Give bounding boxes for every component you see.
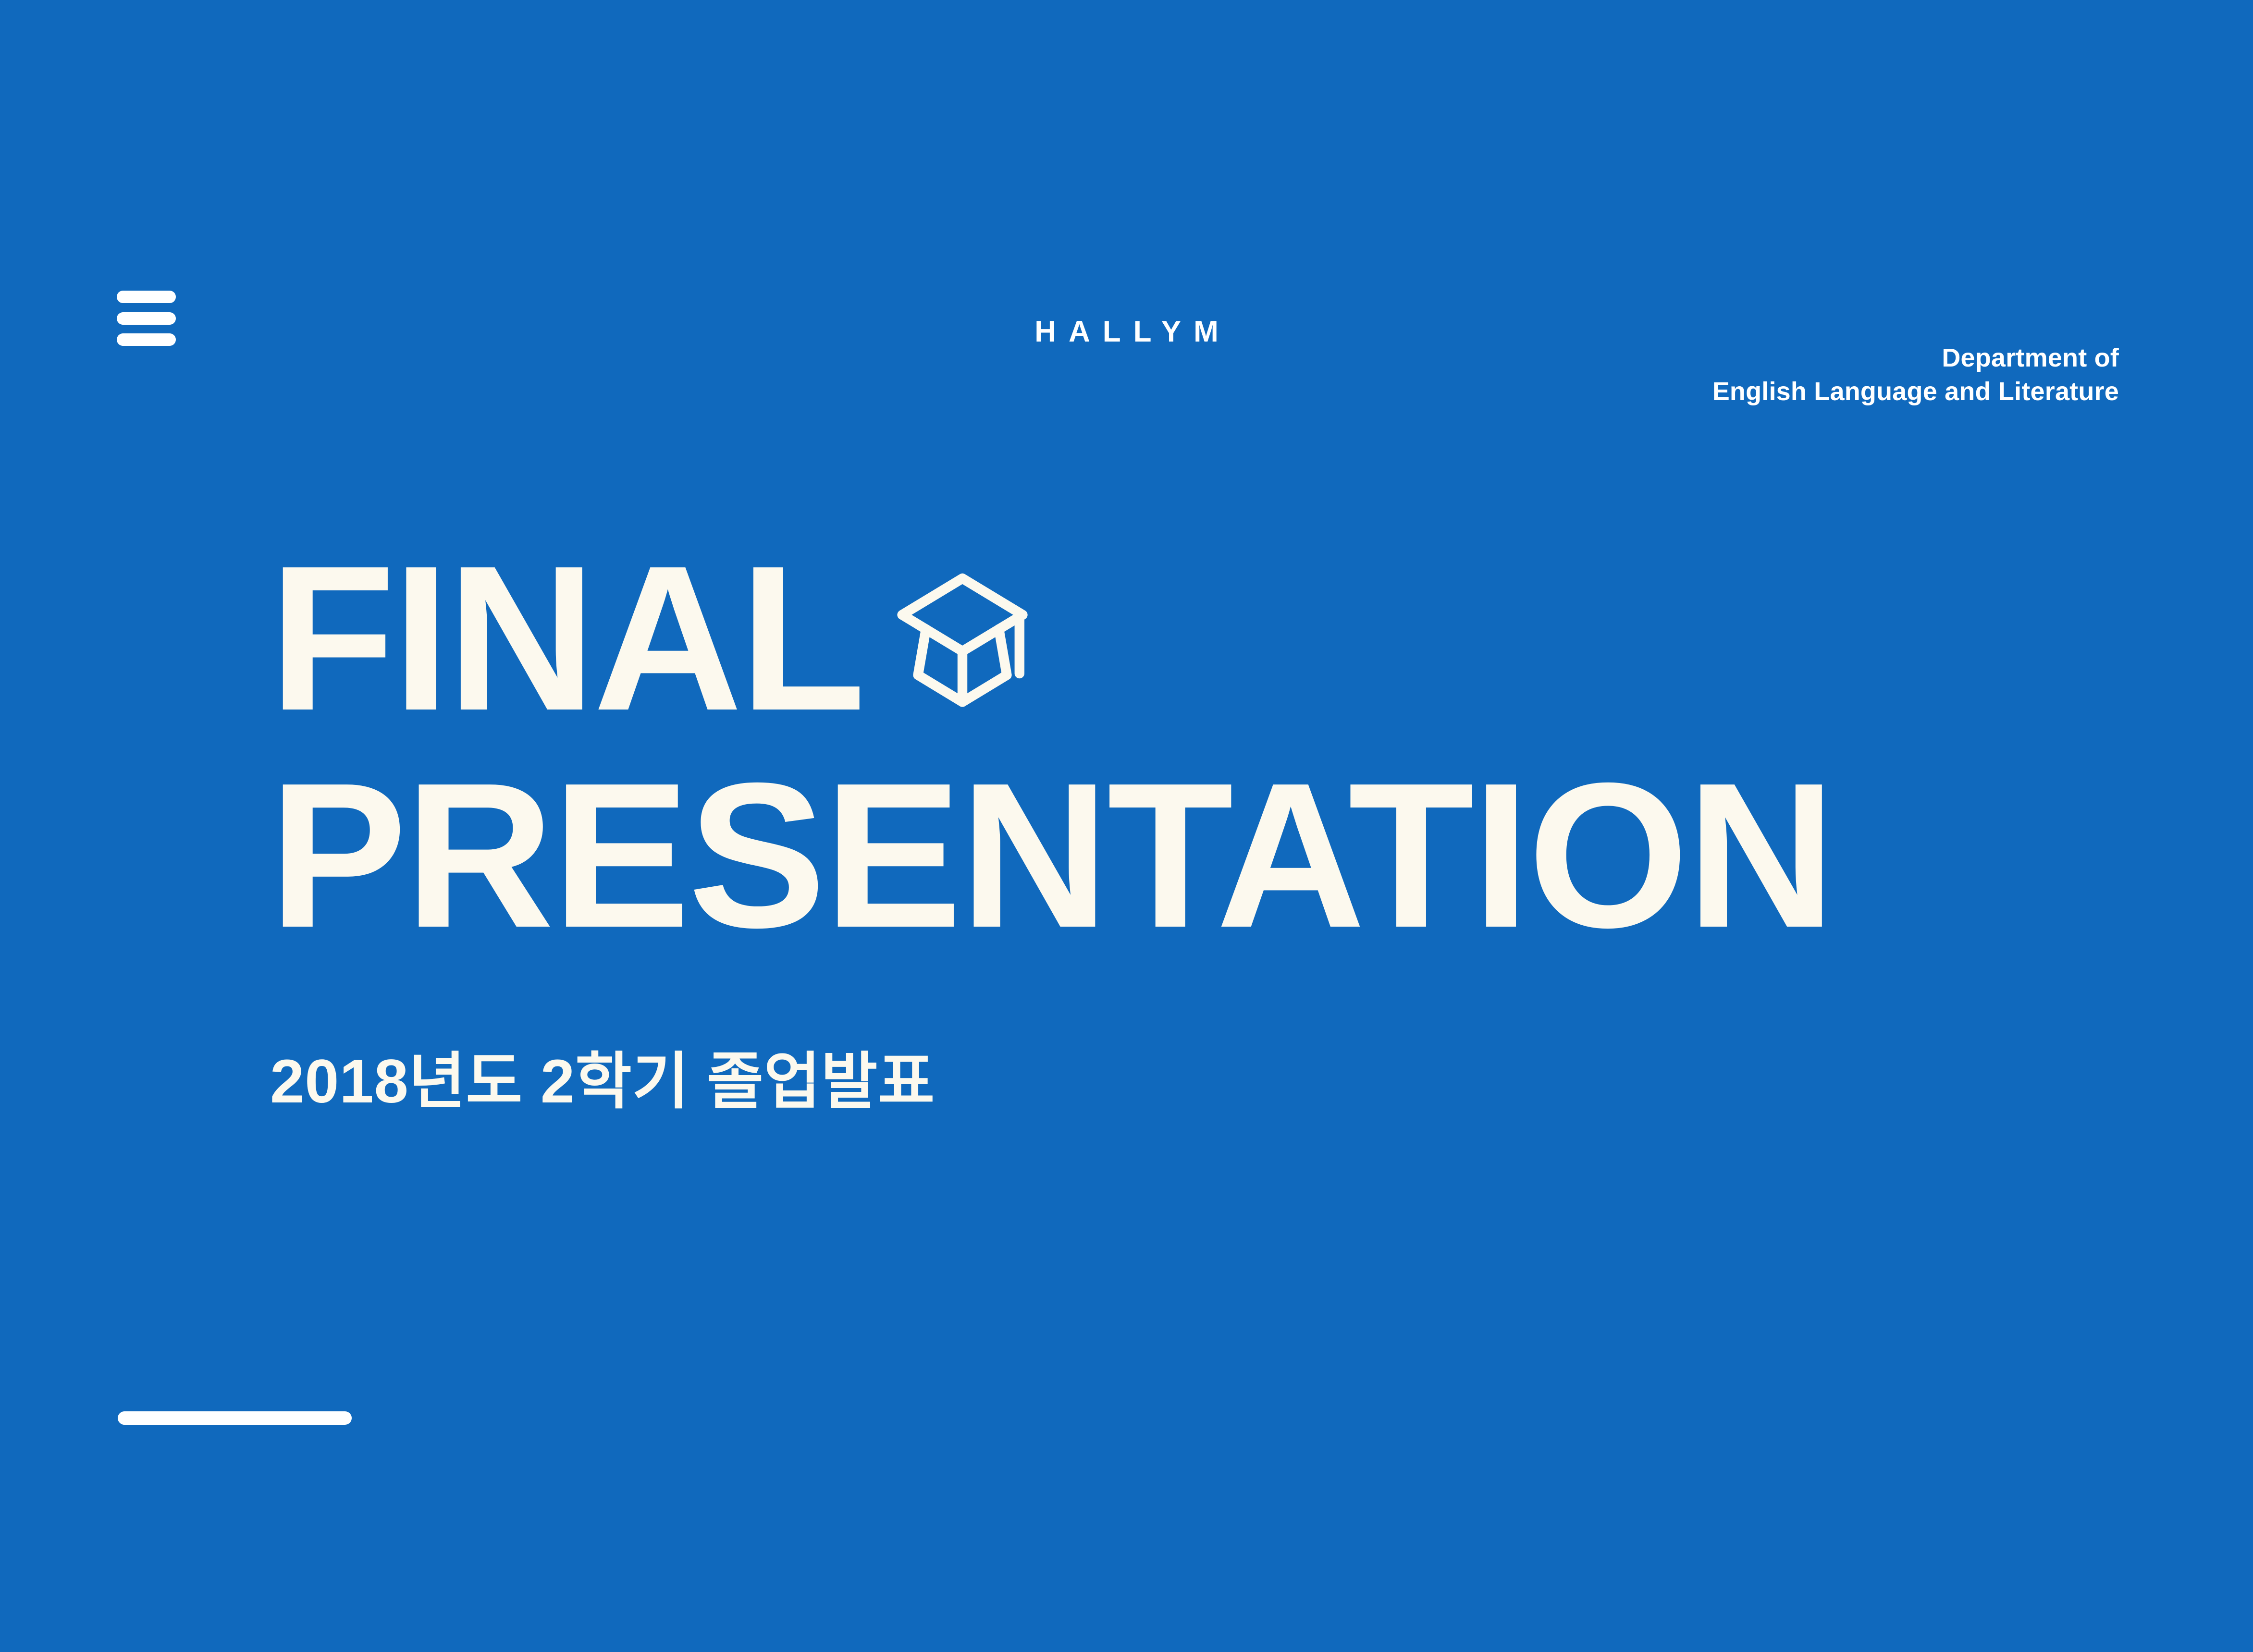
title-line-1-row: FINAL — [269, 543, 2047, 746]
graduation-cap-icon — [883, 554, 1042, 746]
title-line-2-row: PRESENTATION — [269, 760, 2047, 952]
presentation-slide: HALLYM Department of English Language an… — [0, 0, 2253, 1652]
department-line-1: Department of — [1712, 341, 2119, 375]
page-title-line-2: PRESENTATION — [269, 760, 1834, 952]
subtitle: 2018년도 2학기 졸업발표 — [270, 1048, 935, 1116]
page-title-line-1: FINAL — [269, 543, 863, 735]
title-block: FINAL PRESENTATION — [269, 543, 2047, 952]
hamburger-bar-1 — [117, 291, 176, 303]
department-block: Department of English Language and Liter… — [1712, 341, 2119, 408]
department-line-2: English Language and Literature — [1712, 375, 2119, 408]
decorative-rule — [118, 1411, 352, 1425]
